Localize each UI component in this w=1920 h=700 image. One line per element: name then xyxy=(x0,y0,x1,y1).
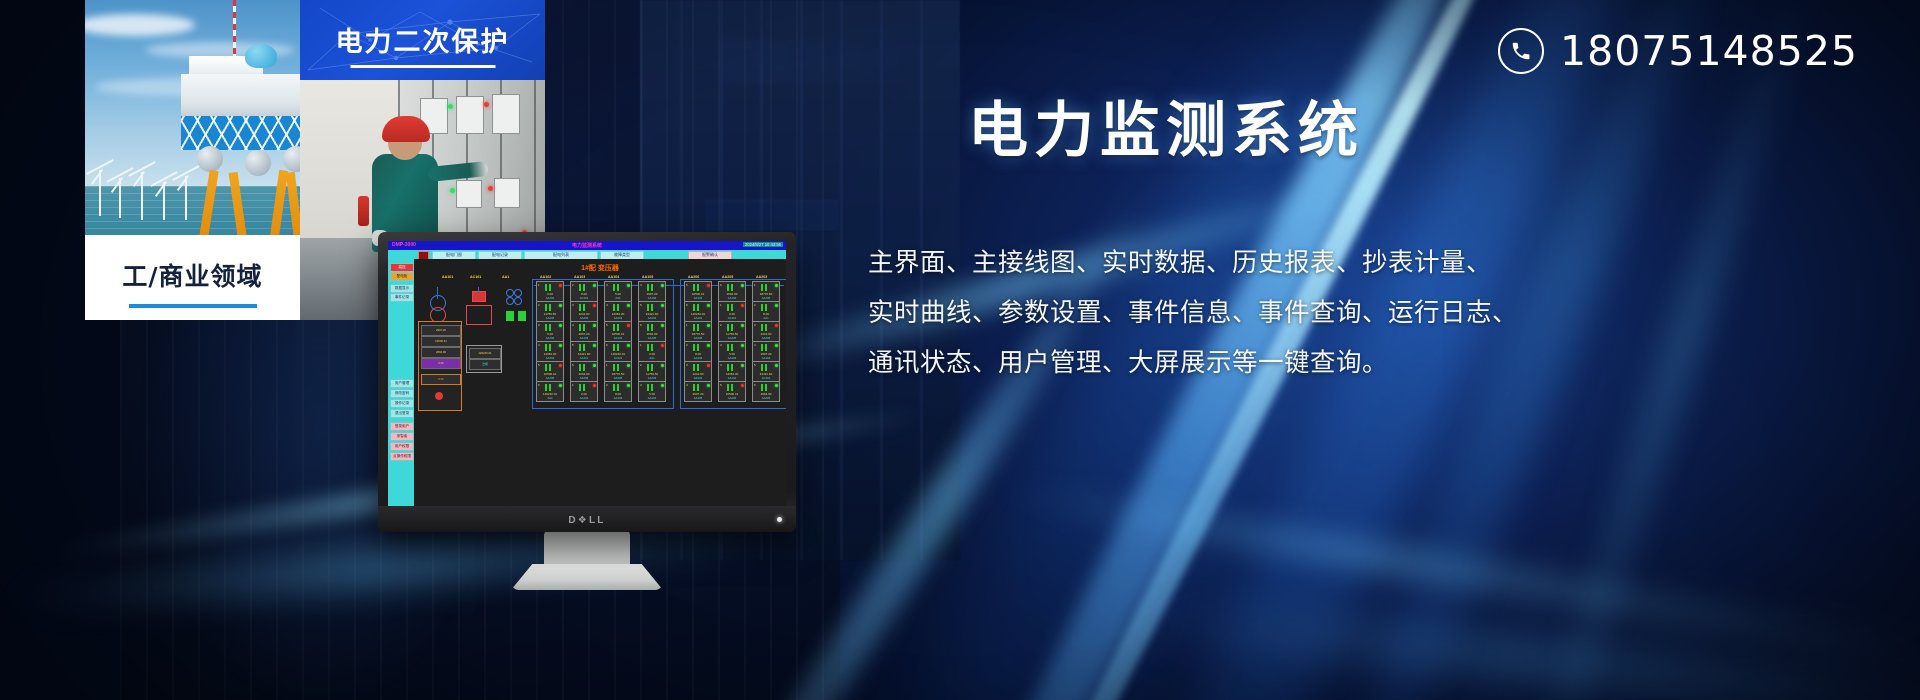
node-symbol xyxy=(514,289,522,297)
sidebar-item-8[interactable]: 登录用户 xyxy=(390,422,414,431)
scada-datetime: 2024/8/27 10:43:56 xyxy=(743,242,783,247)
wind-turbine xyxy=(163,182,165,220)
meter-box: 126240.01 合闸 xyxy=(466,345,502,373)
status-led-red xyxy=(488,186,493,191)
collage-card-secondary-protection: 电力二次保护 xyxy=(300,0,545,80)
dell-monitor: DMP-3000 电力监测系统 2024/8/27 10:43:56 配电门图 … xyxy=(378,232,796,532)
meter-value: 126240.01 xyxy=(469,348,501,359)
status-led-red xyxy=(484,102,489,107)
status-led-green xyxy=(448,104,453,109)
node-symbol xyxy=(506,289,514,297)
scada-sidebar[interactable]: 高压 配电柜 数据显示 事件记录 用户管理 修改密码 操作记录 退出登录 登录用… xyxy=(388,259,414,506)
feeder-group-outline xyxy=(680,279,786,409)
sidebar-item-11[interactable]: 点操作权限 xyxy=(390,452,414,461)
monitor-chin: D❖LL xyxy=(378,506,796,532)
transformer-symbol xyxy=(466,305,492,325)
metering-row: 2694.90 xyxy=(421,347,461,358)
promo-banner: 电力二次保护 工/商业领域 DMP-3000 电力监测系统 2024/8/27 … xyxy=(0,0,1920,700)
bus-segment xyxy=(437,287,438,299)
monitor-screen: DMP-3000 电力监测系统 2024/8/27 10:43:56 配电门图 … xyxy=(388,241,786,506)
cabinet-panel xyxy=(492,94,520,134)
closed-switch-symbol xyxy=(506,311,514,321)
node-symbol xyxy=(514,297,522,305)
scada-menubar[interactable]: 配电门图 配电记录 配电列表 故障类型 报警确认 xyxy=(388,250,786,259)
sidebar-item-2[interactable]: 数据显示 xyxy=(390,284,414,293)
closed-switch-symbol xyxy=(518,311,526,321)
feature-description: 主界面、主接线图、实时数据、历史报表、抄表计量、 实时曲线、参数设置、事件信息、… xyxy=(868,238,1878,388)
platform-dome xyxy=(245,44,277,68)
wind-turbine xyxy=(99,170,101,216)
sidebar-item-1[interactable]: 配电柜 xyxy=(390,272,414,281)
sidebar-item-3[interactable]: 事件记录 xyxy=(390,293,414,302)
sidebar-item-0[interactable]: 高压 xyxy=(390,263,414,272)
platform-deck xyxy=(181,74,300,118)
cabinet-panel xyxy=(456,180,482,208)
dell-logo: D❖LL xyxy=(568,515,605,526)
platform-truss xyxy=(181,116,300,150)
cabinet-panel xyxy=(456,96,484,134)
status-led-green xyxy=(450,188,455,193)
metering-row: 8.00 xyxy=(421,374,461,385)
wind-turbine xyxy=(119,178,121,218)
collage-card-label: 电力二次保护 xyxy=(300,20,545,59)
metering-panel: 2907.20 10500.41 2694.90 0.00 8.00 xyxy=(418,321,462,411)
cabinet-panel xyxy=(494,178,520,208)
scada-application: DMP-3000 电力监测系统 2024/8/27 10:43:56 配电门图 … xyxy=(388,241,786,506)
sidebar-item-10[interactable]: 用户权限 xyxy=(390,442,414,451)
column-header-in1: AC101 xyxy=(470,275,481,279)
description-line-1: 主界面、主接线图、实时数据、历史报表、抄表计量、 xyxy=(868,238,1878,288)
cloud xyxy=(85,14,195,36)
sidebar-item-6[interactable]: 操作记录 xyxy=(390,399,414,408)
breaker-symbol xyxy=(472,291,486,302)
fire-extinguisher xyxy=(358,196,369,226)
phone-number: 18075148525 xyxy=(1560,27,1858,75)
wind-turbine xyxy=(141,172,143,220)
monitor-stand-base xyxy=(511,564,663,590)
collage-card-underline xyxy=(350,65,495,68)
scada-single-line-diagram: 1#配 变压器 xyxy=(414,259,786,506)
node-symbol xyxy=(506,297,514,305)
description-line-3: 通讯状态、用户管理、大屏展示等一键查询。 xyxy=(868,338,1878,388)
column-header-in0: AA101 xyxy=(442,275,453,279)
platform-float xyxy=(197,146,223,172)
column-header-in2: AA1 xyxy=(502,275,509,279)
meter-label: 合闸 xyxy=(469,359,501,370)
sidebar-item-4[interactable]: 用户管理 xyxy=(390,379,414,388)
bus-segment xyxy=(478,287,479,293)
alarm-indicator xyxy=(435,392,443,400)
scada-app-title: 电力监测系统 xyxy=(388,242,786,249)
sidebar-item-9[interactable]: 采智者 xyxy=(390,432,414,441)
wind-turbine xyxy=(185,176,187,220)
metering-row: 2907.20 xyxy=(421,325,461,336)
collage-card-industrial-commercial: 工/商业领域 xyxy=(85,235,300,320)
feeder-group-outline xyxy=(532,279,674,409)
platform-float xyxy=(245,150,271,176)
worker-helmet xyxy=(382,116,430,142)
sidebar-item-5[interactable]: 修改密码 xyxy=(390,389,414,398)
phone-icon xyxy=(1498,28,1544,74)
diagram-title: 1#配 变压器 xyxy=(414,263,786,273)
scada-titlebar: DMP-3000 电力监测系统 2024/8/27 10:43:56 xyxy=(388,241,786,250)
collage-card-underline xyxy=(129,304,257,308)
power-led[interactable] xyxy=(777,517,782,522)
page-title: 电力监测系统 xyxy=(968,101,1364,161)
description-line-2: 实时曲线、参数设置、事件信息、事件查询、运行日志、 xyxy=(868,288,1878,338)
monitor-stand-neck xyxy=(544,530,630,568)
collage-card-label: 工/商业领域 xyxy=(85,257,300,293)
platform-mast xyxy=(233,0,236,58)
sidebar-item-7[interactable]: 退出登录 xyxy=(390,409,414,418)
contact-phone[interactable]: 18075148525 xyxy=(1498,27,1858,75)
metering-row: 10500.41 xyxy=(421,336,461,347)
metering-row: 0.00 xyxy=(421,358,461,369)
